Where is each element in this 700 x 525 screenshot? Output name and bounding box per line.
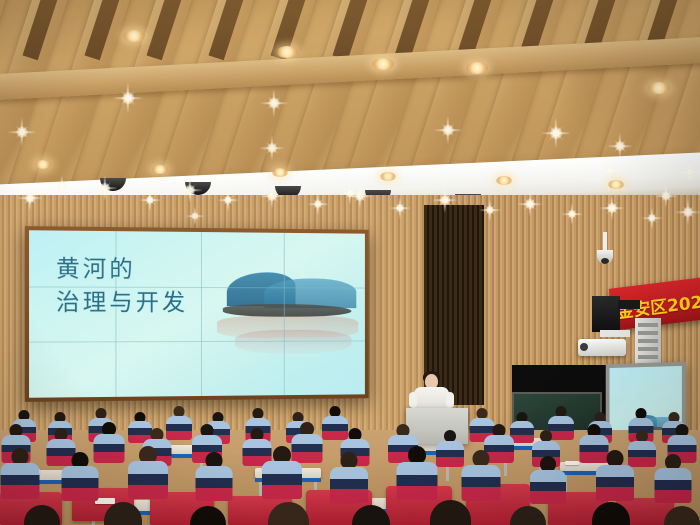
uniform-mid <box>330 479 368 489</box>
student-middle-row <box>436 430 464 468</box>
recessed-ceiling-light <box>276 46 298 58</box>
student-front-row <box>128 446 168 500</box>
uniform-mid <box>94 444 125 452</box>
recessed-ceiling-light <box>648 82 670 94</box>
uniform-mid <box>0 475 39 485</box>
video-wall-frame[interactable]: 黄河的 治理与开发 <box>25 226 369 402</box>
student-uniform <box>396 462 437 500</box>
uniform-lower <box>462 487 501 501</box>
uniform-mid <box>196 478 233 488</box>
uniform-mid <box>668 445 697 453</box>
student-uniform <box>654 468 691 503</box>
uniform-shoulder <box>94 434 125 444</box>
recessed-ceiling-light <box>496 176 512 185</box>
uniform-mid <box>654 480 691 490</box>
recessed-ceiling-light <box>608 180 624 189</box>
uniform-shoulder <box>322 416 348 424</box>
recessed-ceiling-light <box>466 62 488 74</box>
rack-shelf <box>638 331 658 335</box>
uniform-shoulder <box>128 461 168 474</box>
uniform-mid <box>530 482 566 492</box>
uniform-shoulder <box>166 416 192 424</box>
recessed-ceiling-light <box>123 30 145 42</box>
rack-shelf <box>638 323 658 327</box>
student-front-row <box>330 452 368 504</box>
uniform-shoulder <box>388 435 418 445</box>
uniform-shoulder <box>192 435 222 445</box>
uniform-shoulder <box>340 439 369 448</box>
recessed-ceiling-light <box>272 168 288 177</box>
uniform-shoulder <box>196 466 233 478</box>
video-wall-bezel-grid <box>29 230 365 233</box>
student-uniform <box>462 465 501 501</box>
uniform-shoulder <box>62 466 99 478</box>
uniform-shoulder <box>396 462 437 475</box>
student-uniform <box>436 441 464 467</box>
teacher-arm-left <box>409 392 417 408</box>
uniform-lower <box>330 489 368 503</box>
uniform-lower <box>0 485 39 499</box>
uniform-mid <box>128 474 168 485</box>
uniform-mid <box>462 477 501 487</box>
student-front-row <box>62 452 99 503</box>
uniform-shoulder <box>436 441 464 450</box>
teacher-arm-right <box>446 392 454 408</box>
uniform-shoulder <box>628 441 656 450</box>
uniform-shoulder <box>292 434 323 444</box>
uniform-shoulder <box>654 468 691 480</box>
video-wall-screen[interactable]: 黄河的 治理与开发 <box>29 230 365 398</box>
uniform-shoulder <box>484 435 514 445</box>
student-uniform <box>530 470 566 504</box>
uniform-lower <box>62 488 99 501</box>
recessed-ceiling-light <box>35 160 51 169</box>
student-front-row <box>396 446 437 501</box>
uniform-mid <box>262 474 302 485</box>
uniform-shoulder <box>548 416 574 424</box>
projector-arm <box>600 330 630 337</box>
bezel-line-vertical <box>201 232 202 396</box>
camera-mount-pole <box>603 232 607 252</box>
uniform-lower <box>654 490 691 503</box>
student-front-row <box>196 452 233 503</box>
student-uniform <box>330 467 368 503</box>
uniform-shoulder <box>532 441 560 450</box>
recessed-ceiling-light <box>152 165 168 174</box>
student-front-row <box>596 450 634 502</box>
uniform-shoulder <box>628 418 653 426</box>
classroom-photo-scene: 黄河的 治理与开发 金安区2024 合 肥 市 第 四 十 五 中 学 <box>0 0 700 525</box>
camera-lens-icon <box>601 258 609 264</box>
rack-shelf <box>638 347 658 351</box>
uniform-shoulder <box>580 435 609 445</box>
uniform-shoulder <box>246 418 271 426</box>
uniform-mid <box>62 478 99 488</box>
student-front-row <box>262 446 302 500</box>
student-uniform <box>596 465 634 501</box>
notebook <box>565 461 579 465</box>
uniform-shoulder <box>262 461 302 474</box>
uniform-lower <box>262 485 302 499</box>
slide-title-line2: 治理与开发 <box>56 287 188 321</box>
ceiling-speaker-icon <box>592 296 620 332</box>
student-uniform <box>128 461 168 499</box>
student-uniform <box>62 466 99 501</box>
rack-shelf <box>638 339 658 343</box>
rack-shelf <box>638 355 658 359</box>
uniform-shoulder <box>462 465 501 477</box>
uniform-lower <box>596 487 634 501</box>
uniform-shoulder <box>2 435 31 445</box>
student-uniform <box>0 463 39 499</box>
bezel-line-vertical <box>284 233 285 395</box>
student-uniform <box>196 466 233 501</box>
uniform-shoulder <box>530 470 566 482</box>
student-uniform <box>262 461 302 499</box>
uniform-mid <box>396 475 437 486</box>
uniform-shoulder <box>668 435 697 445</box>
slide-title: 黄河的 治理与开发 <box>56 253 188 320</box>
uniform-mid <box>436 450 464 457</box>
uniform-shoulder <box>0 463 39 475</box>
uniform-lower <box>436 457 464 467</box>
student-front-row <box>462 450 501 502</box>
student-front-row <box>0 448 39 500</box>
uniform-lower <box>396 486 437 500</box>
uniform-shoulder <box>596 465 634 477</box>
uniform-lower <box>196 488 233 501</box>
uniform-lower <box>530 491 566 504</box>
uniform-shoulder <box>330 467 368 479</box>
uniform-mid <box>596 477 634 487</box>
recessed-ceiling-light <box>372 58 394 70</box>
uniform-lower <box>128 485 168 499</box>
slide-title-line1: 黄河的 <box>56 253 188 287</box>
recessed-ceiling-light <box>380 172 396 181</box>
student-front-row <box>654 454 691 504</box>
speaker-arm <box>618 300 640 309</box>
projector-lens-icon <box>580 343 588 351</box>
uniform-shoulder <box>46 439 75 448</box>
student-front-row <box>530 456 566 505</box>
